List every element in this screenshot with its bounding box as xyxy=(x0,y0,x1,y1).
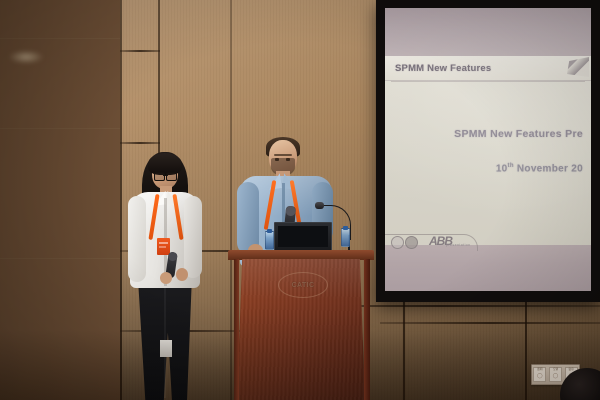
lectern: CATIC xyxy=(228,250,374,400)
slide-title-bar: SPMM New Features xyxy=(385,56,591,81)
switch-toggle[interactable]: 照明◯ xyxy=(533,367,546,382)
water-bottle[interactable] xyxy=(341,228,350,247)
woman-left-hand xyxy=(160,272,172,284)
lectern-top-edge xyxy=(228,250,374,260)
woman-right-hand xyxy=(176,268,188,281)
switch-label: 空调 xyxy=(553,368,558,371)
woman-name-badge xyxy=(157,238,170,255)
switch-label: 照明 xyxy=(537,368,542,371)
slide-footer-dot-icon xyxy=(405,236,418,249)
switch-toggle[interactable]: 空调◯ xyxy=(549,367,562,382)
slide-date-rest: November 20 xyxy=(514,163,583,174)
lectern-right-edge xyxy=(364,259,370,400)
slide-corner-mark-icon xyxy=(567,57,589,77)
presentation-slide: SPMM New Features SPMM New Features Pre … xyxy=(385,8,591,291)
slide-top-band xyxy=(385,8,591,56)
lectern-emblem: CATIC xyxy=(278,272,328,298)
switch-glyph-icon: ◯ xyxy=(534,372,545,380)
slide-logo-subtext: presentation xyxy=(446,243,471,247)
woman-held-paper xyxy=(160,340,172,357)
woman-right-arm xyxy=(184,196,202,278)
slide-footer-dot-icon xyxy=(391,236,404,249)
eyeglasses-icon xyxy=(154,172,177,179)
slide-date-day: 10 xyxy=(496,163,508,174)
water-bottle[interactable] xyxy=(265,231,274,250)
switch-glyph-icon: ◯ xyxy=(550,372,561,380)
lectern-left-edge xyxy=(234,259,239,400)
slide-footer-band xyxy=(385,245,591,291)
slide-heading-primary: SPMM New Features Pre xyxy=(454,128,583,140)
slide-heading-date: 10th November 20 xyxy=(496,163,583,174)
projection-screen[interactable]: SPMM New Features SPMM New Features Pre … xyxy=(376,0,600,302)
slide-brand-logo: ABB presentation xyxy=(429,234,477,250)
man-eyebrows xyxy=(274,154,292,156)
slide-title-underline xyxy=(391,81,585,82)
woman-left-arm xyxy=(128,196,146,282)
projection-screen-surface: SPMM New Features SPMM New Features Pre … xyxy=(385,8,591,291)
microphone-capsule-icon xyxy=(315,202,324,209)
slide-title-text: SPMM New Features xyxy=(395,63,491,74)
conference-room-photo: SPMM New Features SPMM New Features Pre … xyxy=(0,0,600,400)
lectern-emblem-text: CATIC xyxy=(292,282,315,289)
